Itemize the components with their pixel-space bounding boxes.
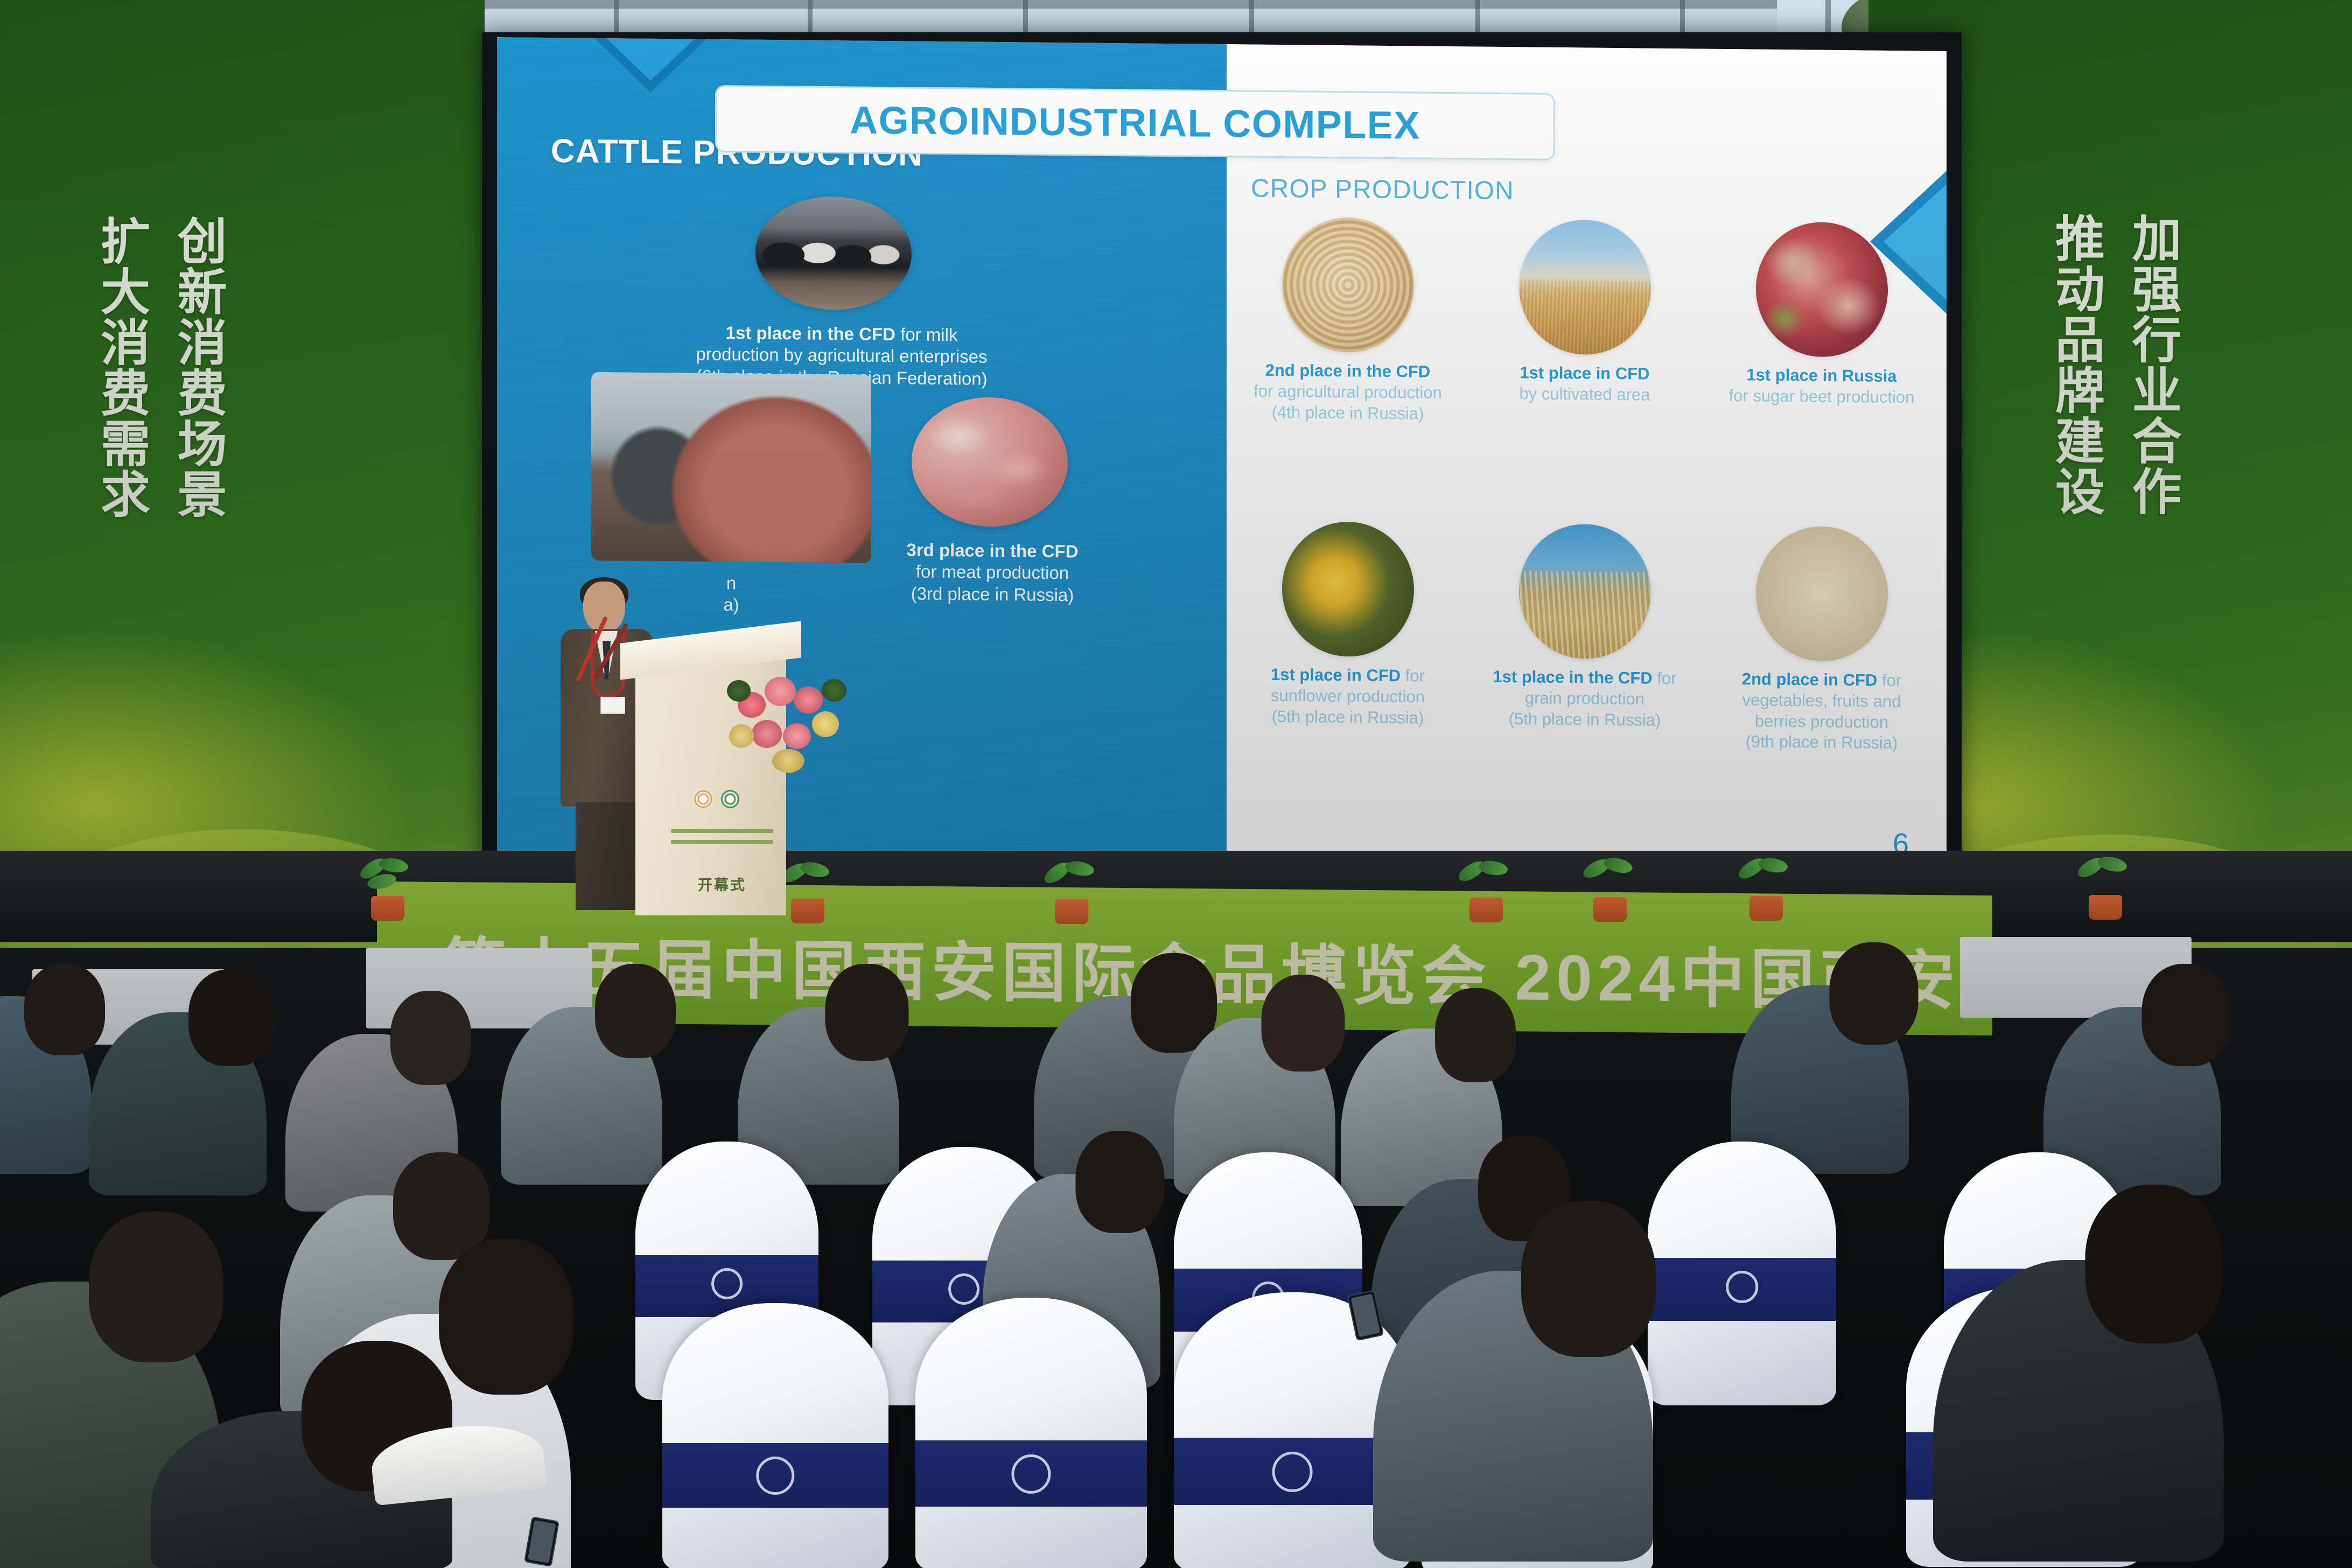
banner-left-col-1: 创新消费场景 xyxy=(169,215,227,519)
slide-title-pill: AGROINDUSTRIAL COMPLEX xyxy=(715,85,1555,160)
crop-item-cultivated-area: 1st place in CFD by cultivated area xyxy=(1474,219,1695,520)
banner-right-slogan: 加强行业合作 推动品牌建设 xyxy=(2046,213,2181,516)
fruits-vegetables-photo xyxy=(1756,526,1888,662)
crop-caption-line2: by cultivated area xyxy=(1520,384,1650,404)
slide-title: AGROINDUSTRIAL COMPLEX xyxy=(850,98,1420,148)
banner-right-col-2: 推动品牌建设 xyxy=(2046,213,2105,516)
audience-head xyxy=(1262,975,1345,1072)
sugar-beet-photo xyxy=(1756,222,1888,358)
meat-production-caption: 3rd place in the CFD for meat production… xyxy=(895,539,1089,606)
audience-head xyxy=(1830,942,1919,1045)
chair xyxy=(1648,1142,1836,1405)
audience-head xyxy=(2085,1185,2223,1343)
crop-production-heading: CROP PRODUCTION xyxy=(1251,174,1514,206)
red-beef-cow-photo xyxy=(591,372,871,563)
meat-caption-line3: (3rd place in Russia) xyxy=(911,583,1074,605)
milk-caption-bold: 1st place in the CFD xyxy=(726,323,895,344)
wheat-field-sky-photo xyxy=(1519,219,1651,355)
crop-caption: 1st place in CFD for sunflower productio… xyxy=(1271,664,1425,729)
crop-caption: 2nd place in the CFD for agricultural pr… xyxy=(1254,360,1442,425)
crop-item-sunflower: 1st place in CFD for sunflower productio… xyxy=(1237,521,1458,822)
crop-item-vegetables-fruits-berries: 2nd place in CFD for vegetables, fruits … xyxy=(1711,526,1932,827)
crop-caption: 1st place in Russia for sugar beet produ… xyxy=(1729,365,1915,408)
crop-caption-bold: 1st place in CFD xyxy=(1520,363,1649,383)
crop-caption-bold-tail: for xyxy=(1877,671,1901,690)
audience-head xyxy=(439,1238,573,1395)
crop-caption-bold: 2nd place in CFD xyxy=(1742,669,1877,689)
beef-caption-line2: n xyxy=(726,573,736,593)
crop-caption-line2: grain production xyxy=(1525,688,1644,708)
banner-left-slogan: 创新消费场景 扩大消费需求 xyxy=(92,215,227,519)
audience-head xyxy=(24,964,105,1055)
crop-caption-bold: 1st place in CFD xyxy=(1271,665,1401,685)
crop-caption: 1st place in CFD by cultivated area xyxy=(1520,362,1650,405)
dairy-cows-photo xyxy=(755,196,912,311)
crop-caption-line4: (9th place in Russia) xyxy=(1746,732,1898,753)
crop-caption: 1st place in the CFD for grain productio… xyxy=(1493,667,1676,731)
conference-hall-scene: 创新消费场景 扩大消费需求 加强行业合作 推动品牌建设 AGROINDUSTRI… xyxy=(0,0,2352,1568)
crop-caption-line2: for agricultural production xyxy=(1254,381,1442,402)
crop-caption: 2nd place in CFD for vegetables, fruits … xyxy=(1742,669,1901,754)
sunflower-photo xyxy=(1282,521,1414,657)
crop-caption-bold-tail: for xyxy=(1401,666,1425,685)
chair xyxy=(662,1303,888,1568)
potted-plant xyxy=(1039,860,1104,924)
speaker-legs xyxy=(576,802,640,910)
chair xyxy=(915,1298,1147,1568)
potted-plant xyxy=(2073,855,2138,920)
crop-item-sugar-beet: 1st place in Russia for sugar beet produ… xyxy=(1711,221,1932,522)
banner-left-col-2: 扩大消费需求 xyxy=(92,215,150,519)
chevron-down-inner-icon xyxy=(590,37,711,81)
crop-production-grid: 2nd place in the CFD for agricultural pr… xyxy=(1237,216,1932,826)
pork-meat-photo xyxy=(912,396,1068,527)
banner-left-green: 创新消费场景 扩大消费需求 xyxy=(0,0,485,948)
potted-plant xyxy=(355,856,420,921)
potted-plant xyxy=(1734,856,1798,921)
crop-item-agricultural-production: 2nd place in the CFD for agricultural pr… xyxy=(1237,216,1458,517)
beef-caption-line3: a) xyxy=(723,594,739,614)
milk-caption-rest: for milk xyxy=(895,324,958,345)
crop-caption-line2: sunflower production xyxy=(1271,686,1425,706)
banner-right-col-1: 加强行业合作 xyxy=(2123,213,2182,516)
crop-caption-line3: berries production xyxy=(1755,711,1888,731)
audience-head xyxy=(89,1212,223,1362)
podium-ceremony-label: 开幕式 xyxy=(698,873,746,894)
podium-text-line-1 xyxy=(671,829,773,833)
audience-head xyxy=(188,969,275,1066)
crop-caption-line2: for sugar beet production xyxy=(1729,386,1915,407)
crop-caption-bold-tail: for xyxy=(1653,669,1677,688)
audience-head xyxy=(393,1152,490,1260)
crop-caption-bold: 2nd place in the CFD xyxy=(1265,361,1431,381)
flower-bouquet xyxy=(727,670,862,783)
grain-bowl-photo xyxy=(1282,217,1414,353)
crop-caption-line3: (5th place in Russia) xyxy=(1509,709,1661,730)
audience-head xyxy=(825,964,909,1061)
crop-caption-bold: 1st place in the CFD xyxy=(1493,667,1652,688)
meat-caption-bold: 3rd place in the CFD xyxy=(906,540,1078,561)
audience-head xyxy=(1521,1201,1656,1357)
meat-caption-line2: for meat production xyxy=(916,562,1069,583)
milk-caption-line2: production by agricultural enterprises xyxy=(696,344,987,367)
crop-caption-bold: 1st place in Russia xyxy=(1746,365,1896,386)
podium-text-line-2 xyxy=(671,840,773,844)
crop-item-grain: 1st place in the CFD for grain productio… xyxy=(1474,523,1695,824)
audience-head xyxy=(595,964,676,1058)
audience-head xyxy=(390,991,471,1085)
expo-logo-icon xyxy=(694,789,713,809)
green-food-logo-icon xyxy=(720,789,740,809)
audience-head xyxy=(2142,964,2231,1066)
potted-plant xyxy=(1578,857,1642,922)
crop-caption-line2: vegetables, fruits and xyxy=(1742,690,1901,711)
audience-area xyxy=(0,926,2352,1568)
podium-logos xyxy=(694,789,740,809)
crop-caption-line3: (4th place in Russia) xyxy=(1272,402,1424,423)
speaker-badge xyxy=(600,697,625,714)
potted-plant xyxy=(1454,859,1518,922)
wheat-ears-photo xyxy=(1519,523,1651,659)
crop-caption-line3: (5th place in Russia) xyxy=(1272,706,1424,727)
audience-head xyxy=(1076,1131,1165,1233)
audience-head xyxy=(1435,988,1516,1082)
